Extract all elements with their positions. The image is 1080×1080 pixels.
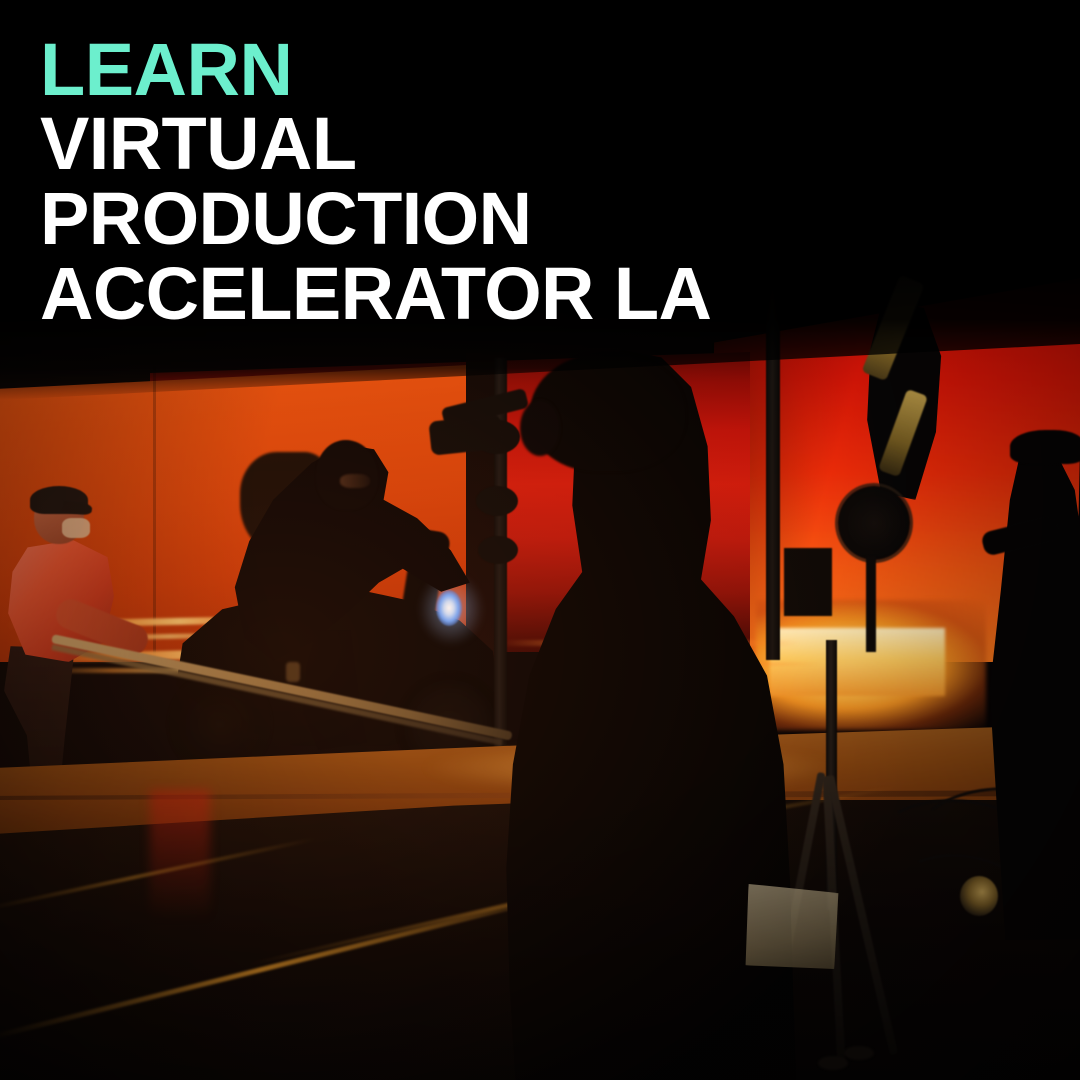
rider-helmet-visor: [340, 474, 370, 488]
stage-junction-box: [784, 548, 832, 616]
motorcycle-headlight: [436, 590, 462, 626]
headline-line-3: ACCELERATOR LA: [40, 257, 900, 332]
grip-knuckle: [478, 536, 518, 564]
headline-line-1: VIRTUAL: [40, 107, 900, 182]
light-fixture-reflector: [838, 486, 910, 560]
crew-member-left-face-mask: [62, 518, 90, 538]
headline-kicker: LEARN: [40, 34, 900, 105]
c-stand-foot: [844, 1046, 874, 1060]
c-stand-foot: [818, 1056, 848, 1070]
grip-knuckle: [476, 486, 518, 516]
foreground-operator-headset: [520, 400, 560, 456]
foreground-operator-script-pages: [736, 879, 846, 979]
poster-canvas: LEARN VIRTUAL PRODUCTION ACCELERATOR LA: [0, 0, 1080, 1080]
light-fixture-yoke: [866, 556, 876, 652]
headline-block: LEARN VIRTUAL PRODUCTION ACCELERATOR LA: [40, 34, 900, 331]
headline-line-2: PRODUCTION: [40, 182, 900, 257]
floor-red-spill: [150, 790, 210, 920]
crew-member-right-cap: [1010, 430, 1080, 464]
motorcycle-highlight: [286, 662, 300, 682]
